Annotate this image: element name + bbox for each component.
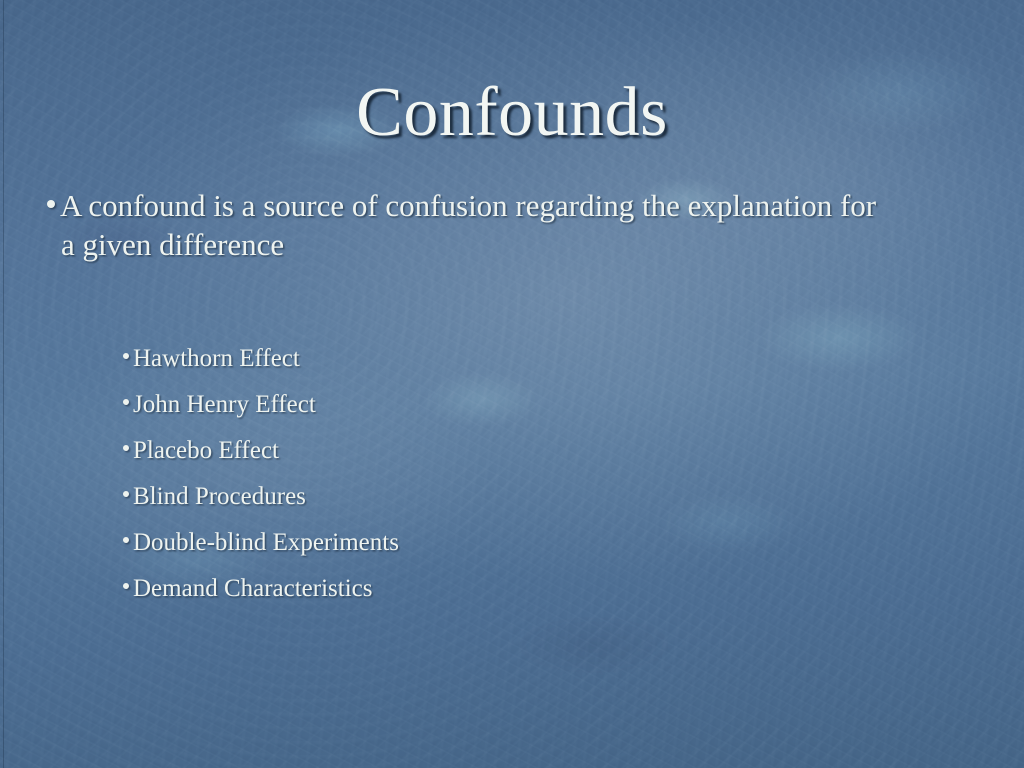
main-bullet-list: A confound is a source of confusion rega… — [47, 186, 877, 264]
bullet-dot-icon — [123, 399, 129, 405]
bullet-text: Placebo Effect — [133, 437, 279, 464]
list-item: Placebo Effect — [123, 428, 823, 474]
list-item: Blind Procedures — [123, 474, 823, 520]
slide-content: Confounds A confound is a source of conf… — [0, 0, 1024, 768]
bullet-text: John Henry Effect — [133, 391, 316, 418]
bullet-dot-icon — [123, 353, 129, 359]
bullet-dot-icon — [123, 491, 129, 497]
list-item: Double-blind Experiments — [123, 520, 823, 566]
bullet-text: A confound is a source of confusion rega… — [60, 188, 876, 262]
bullet-text: Hawthorn Effect — [133, 345, 300, 372]
bullet-text: Double-blind Experiments — [133, 529, 399, 556]
bullet-dot-icon — [123, 583, 129, 589]
list-item: Demand Characteristics — [123, 566, 823, 612]
bullet-dot-icon — [47, 200, 55, 208]
list-item: John Henry Effect — [123, 382, 823, 428]
bullet-text: Demand Characteristics — [133, 575, 373, 602]
slide-title: Confounds — [0, 78, 1024, 148]
presentation-slide: Confounds A confound is a source of conf… — [0, 0, 1024, 768]
list-item: Hawthorn Effect — [123, 336, 823, 382]
sub-bullet-list: Hawthorn Effect John Henry Effect Placeb… — [123, 336, 823, 612]
bullet-dot-icon — [123, 537, 129, 543]
bullet-dot-icon — [123, 445, 129, 451]
list-item: A confound is a source of confusion rega… — [47, 186, 877, 264]
bullet-text: Blind Procedures — [133, 483, 306, 510]
